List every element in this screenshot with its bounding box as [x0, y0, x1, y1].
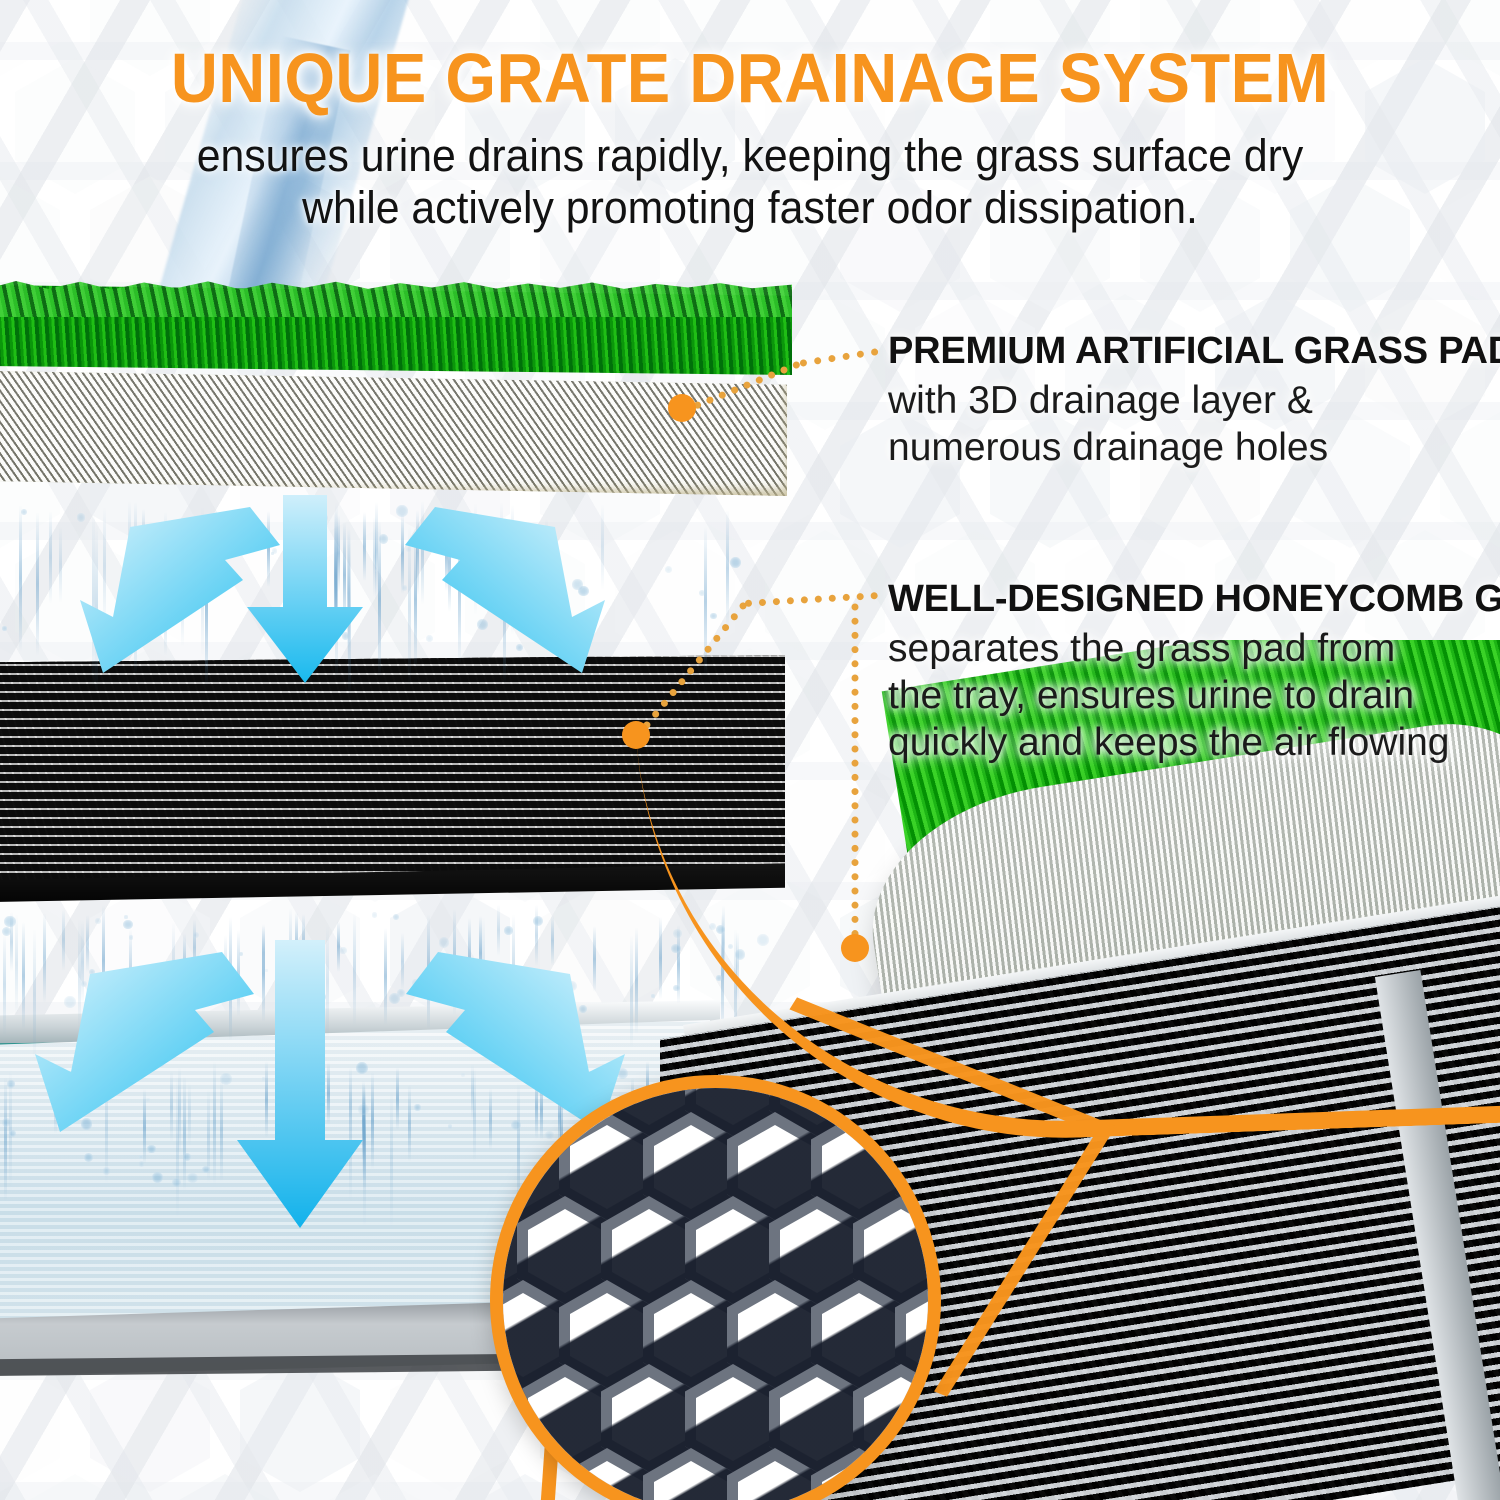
water-drip	[390, 1087, 393, 1228]
water-droplet	[2, 626, 7, 631]
water-drip	[36, 512, 39, 656]
honeycomb-magnifier	[490, 1075, 941, 1500]
page-title: UNIQUE GRATE DRAINAGE SYSTEM	[53, 38, 1448, 118]
callout-honeycomb-grate-body: separates the grass pad from the tray, e…	[888, 625, 1488, 766]
water-droplet	[139, 1161, 144, 1166]
water-droplet	[124, 915, 128, 919]
water-droplet	[103, 1167, 111, 1175]
water-droplet	[187, 1173, 197, 1183]
page-subtitle: ensures urine drains rapidly, keeping th…	[66, 130, 1434, 234]
water-drip	[726, 510, 729, 627]
hexagon-tile	[15, 1474, 135, 1500]
callout-grass-pad: PREMIUM ARTIFICIAL GRASS PAD with 3D dra…	[888, 330, 1488, 471]
hexagon-tile	[315, 1474, 435, 1500]
subtitle-line-1: ensures urine drains rapidly, keeping th…	[66, 130, 1434, 182]
water-droplet	[2, 1118, 11, 1127]
magnified-hexagon-grid	[503, 1088, 928, 1500]
flow-arrow-center-lower	[235, 940, 365, 1230]
water-droplet	[372, 912, 377, 917]
water-droplet	[439, 937, 450, 948]
water-droplet	[4, 916, 16, 928]
hexagon-tile	[1440, 176, 1500, 312]
water-drip	[49, 511, 52, 604]
callout-honeycomb-grate-heading: WELL-DESIGNED HONEYCOMB GRATE	[888, 578, 1488, 621]
hexagon-tile	[240, 1356, 360, 1492]
water-droplet	[95, 918, 101, 924]
water-droplet	[504, 926, 513, 935]
water-droplet	[123, 920, 133, 930]
hexagon-tile	[90, 1356, 210, 1492]
water-drip	[15, 914, 18, 1014]
water-droplet	[7, 1080, 14, 1087]
water-drip	[384, 928, 387, 1026]
water-drip	[19, 505, 22, 652]
hexagon-tile	[0, 0, 60, 76]
water-droplet	[699, 590, 705, 596]
water-drip	[396, 1067, 399, 1130]
hexagon-tile	[165, 1474, 285, 1500]
water-drip	[630, 935, 633, 1047]
flow-arrow-center-upper	[245, 495, 365, 685]
water-droplet	[147, 1145, 155, 1153]
callout-grass-pad-body: with 3D drainage layer & numerous draina…	[888, 377, 1488, 471]
water-drip	[635, 927, 638, 1033]
water-drip	[4, 1077, 7, 1200]
water-drip	[59, 526, 62, 603]
water-droplet	[651, 994, 655, 998]
water-droplet	[389, 993, 400, 1004]
water-drip	[497, 905, 500, 956]
callout-honeycomb-grate-body-line-2: the tray, ensures urine to drain	[888, 672, 1488, 719]
water-drip	[9, 1070, 12, 1187]
infographic-canvas: UNIQUE GRATE DRAINAGE SYSTEM ensures uri…	[0, 0, 1500, 1500]
subtitle-line-2: while actively promoting faster odor dis…	[66, 182, 1434, 234]
callout-honeycomb-grate-body-line-3: quickly and keeps the air flowing	[888, 719, 1488, 766]
leader-origin-dot-photo	[841, 934, 869, 962]
hexagon-tile	[390, 1356, 510, 1492]
water-drip	[3, 934, 6, 1035]
water-droplet	[9, 1130, 16, 1137]
callout-honeycomb-grate-body-line-1: separates the grass pad from	[888, 625, 1488, 672]
water-drip	[378, 521, 381, 677]
water-drip	[22, 922, 25, 1030]
callout-honeycomb-grate: WELL-DESIGNED HONEYCOMB GRATE separates …	[888, 578, 1488, 766]
leader-origin-dot-grass-pad	[668, 394, 696, 422]
water-droplet	[129, 935, 133, 939]
callout-grass-pad-heading: PREMIUM ARTIFICIAL GRASS PAD	[888, 330, 1488, 373]
callout-grass-pad-body-line-2: numerous drainage holes	[888, 424, 1488, 471]
hexagon-tile	[1440, 0, 1500, 76]
water-droplet	[172, 1178, 181, 1187]
flow-arrow-left-lower	[30, 950, 260, 1140]
hexagon-tile	[0, 1356, 60, 1492]
water-droplet	[375, 569, 378, 572]
leader-photo-segment-vertical	[852, 604, 859, 952]
water-droplet	[393, 914, 399, 920]
grass-pad-edge	[0, 371, 787, 496]
water-droplet	[202, 1166, 210, 1174]
flow-arrow-right-upper	[400, 505, 610, 680]
leader-origin-dot-grate	[622, 721, 650, 749]
callout-grass-pad-body-line-1: with 3D drainage layer &	[888, 377, 1488, 424]
